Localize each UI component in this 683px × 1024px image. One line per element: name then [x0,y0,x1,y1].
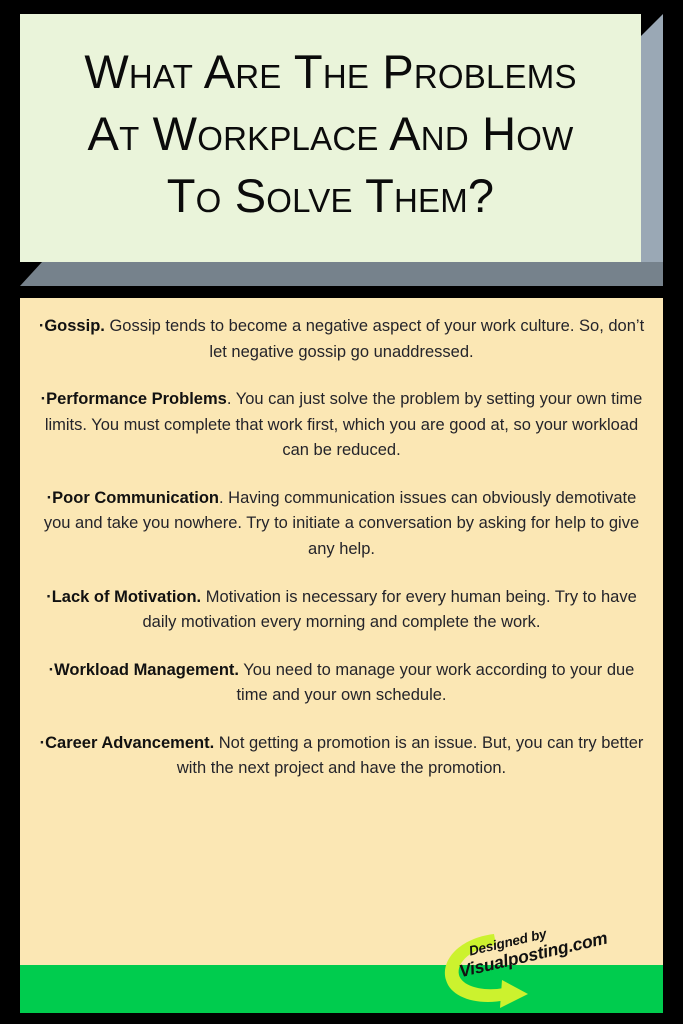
list-item-heading: Career Advancement. [45,734,214,752]
list-item: ·Gossip. Gossip tends to become a negati… [34,314,649,365]
body-panel: ·Gossip. Gossip tends to become a negati… [20,298,663,965]
infographic-poster: What Are The Problems At Workplace And H… [0,0,683,1024]
list-item-text: You need to manage your work according t… [236,661,634,705]
list-item-text: Not getting a promotion is an issue. But… [177,734,644,778]
list-item: ·Career Advancement. Not getting a promo… [34,731,649,782]
list-item: ·Lack of Motivation. Motivation is neces… [34,585,649,636]
list-item-heading: Gossip. [44,317,105,335]
title-block: What Are The Problems At Workplace And H… [20,14,663,286]
title-card: What Are The Problems At Workplace And H… [20,14,641,262]
list-item: ·Performance Problems. You can just solv… [34,387,649,464]
page-title-line-1: What Are The Problems [84,43,576,105]
footer-bar [20,965,663,1013]
list-item: ·Poor Communication. Having communicatio… [34,486,649,563]
list-item-heading: Performance Problems [46,390,227,408]
list-item-text: Gossip tends to become a negative aspect… [105,317,644,361]
list-item-heading: Lack of Motivation. [52,588,201,606]
list-item-heading: Workload Management. [54,661,239,679]
list-item: ·Workload Management. You need to manage… [34,658,649,709]
title-shadow-bottom-bevel [20,262,663,286]
page-title-line-3: To Solve Them? [167,167,495,229]
title-shadow-right-bevel [641,14,663,286]
list-item-text: Motivation is necessary for every human … [142,588,636,632]
list-item-heading: Poor Communication [52,489,219,507]
page-title-line-2: At Workplace And How [88,105,574,167]
